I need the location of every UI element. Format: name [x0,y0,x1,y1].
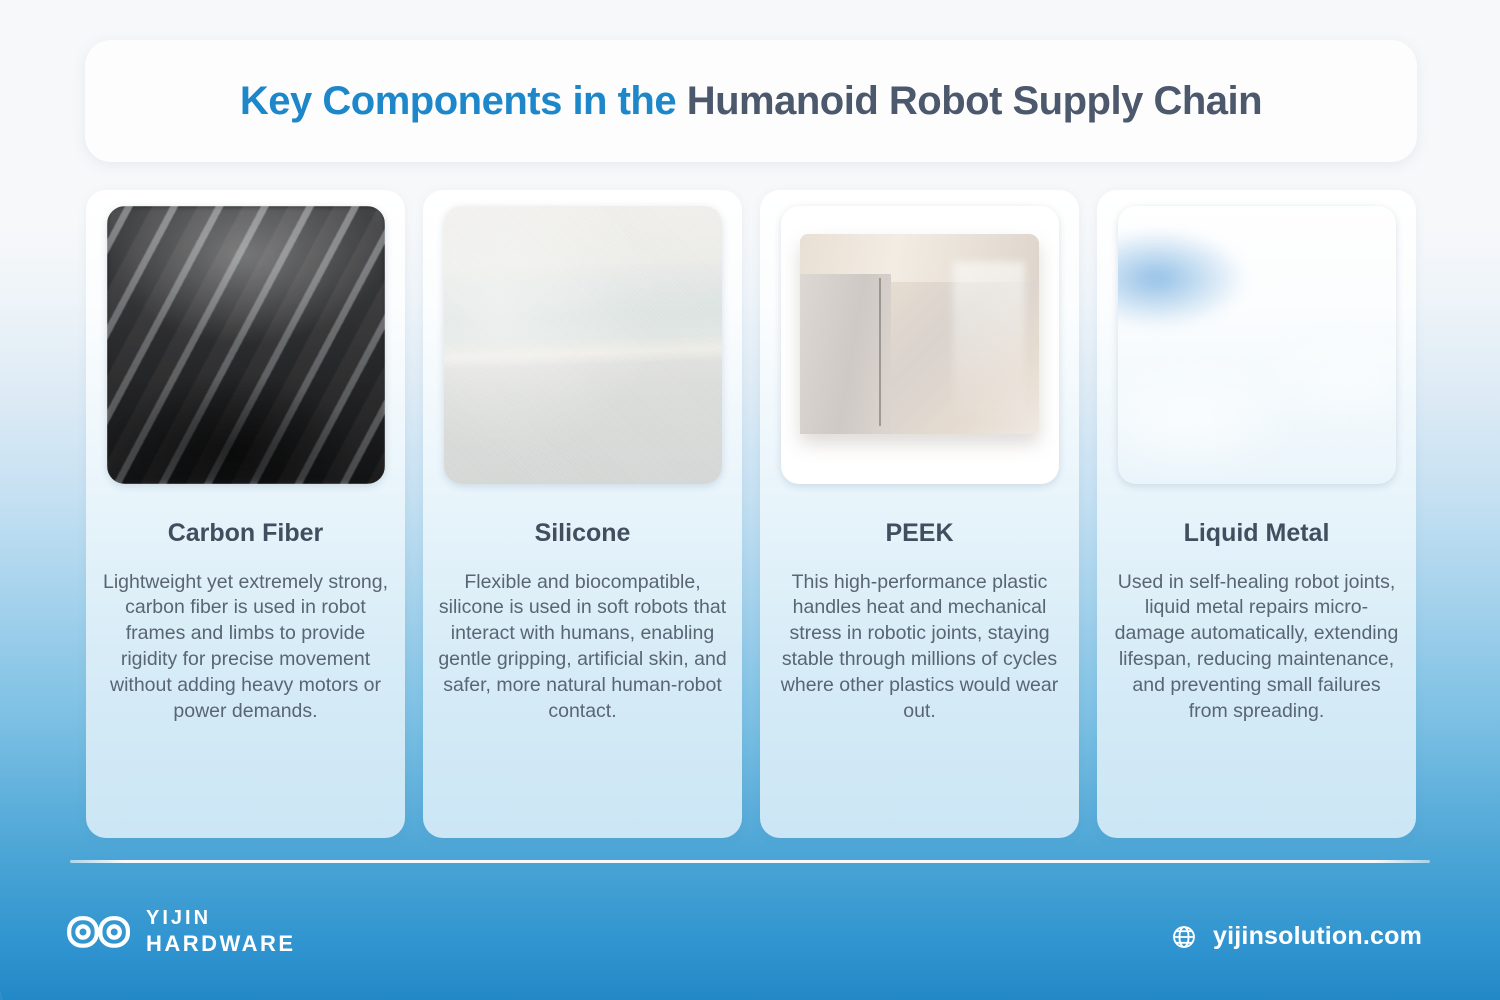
peek-block-highlight [953,262,1025,418]
component-card: Liquid Metal Used in self-healing robot … [1097,190,1416,838]
carbon-fiber-weave-photo [107,206,385,484]
peek-plastic-block-photo [781,206,1059,484]
silicone-sheet-photo [444,206,722,484]
component-card-grid: Carbon Fiber Lightweight yet extremely s… [86,190,1416,838]
card-description: Used in self-healing robot joints, liqui… [1111,570,1402,726]
brand-wordmark: YIJIN HARDWARE [146,908,296,955]
liquid-metal-surface-photo [1118,206,1396,484]
page-title-rest: Humanoid Robot Supply Chain [687,79,1262,123]
brand-name-line2: HARDWARE [146,933,296,955]
globe-icon [1171,924,1197,950]
card-thumbnail [444,206,722,484]
title-banner: Key Components in the Humanoid Robot Sup… [85,40,1417,162]
footer: YIJIN HARDWARE yijinsolution.com [0,880,1500,1000]
page-title: Key Components in the Humanoid Robot Sup… [240,79,1262,124]
card-title: PEEK [885,520,953,548]
yijin-infinity-logo-icon [66,912,132,952]
component-card: Carbon Fiber Lightweight yet extremely s… [86,190,405,838]
card-thumbnail [1118,206,1396,484]
card-description: This high-performance plastic handles he… [774,570,1065,726]
card-description: Lightweight yet extremely strong, carbon… [100,570,391,726]
peek-block-shape [800,234,1039,434]
component-card: Silicone Flexible and biocompatible, sil… [423,190,742,838]
card-thumbnail [781,206,1059,484]
card-thumbnail [107,206,385,484]
peek-block-side-face [800,274,891,434]
website-link[interactable]: yijinsolution.com [1171,922,1422,951]
page-title-accent: Key Components in the [240,79,687,123]
peek-block-edge [879,278,881,426]
component-card: PEEK This high-performance plastic handl… [760,190,1079,838]
card-title: Liquid Metal [1184,520,1330,548]
brand-name-line1: YIJIN [146,908,296,928]
card-title: Carbon Fiber [168,520,324,548]
card-title: Silicone [535,520,631,548]
brand-lockup: YIJIN HARDWARE [66,908,296,955]
website-url-text: yijinsolution.com [1213,922,1422,951]
infographic-canvas: Key Components in the Humanoid Robot Sup… [0,0,1500,1000]
footer-divider [70,860,1430,863]
card-description: Flexible and biocompatible, silicone is … [437,570,728,726]
